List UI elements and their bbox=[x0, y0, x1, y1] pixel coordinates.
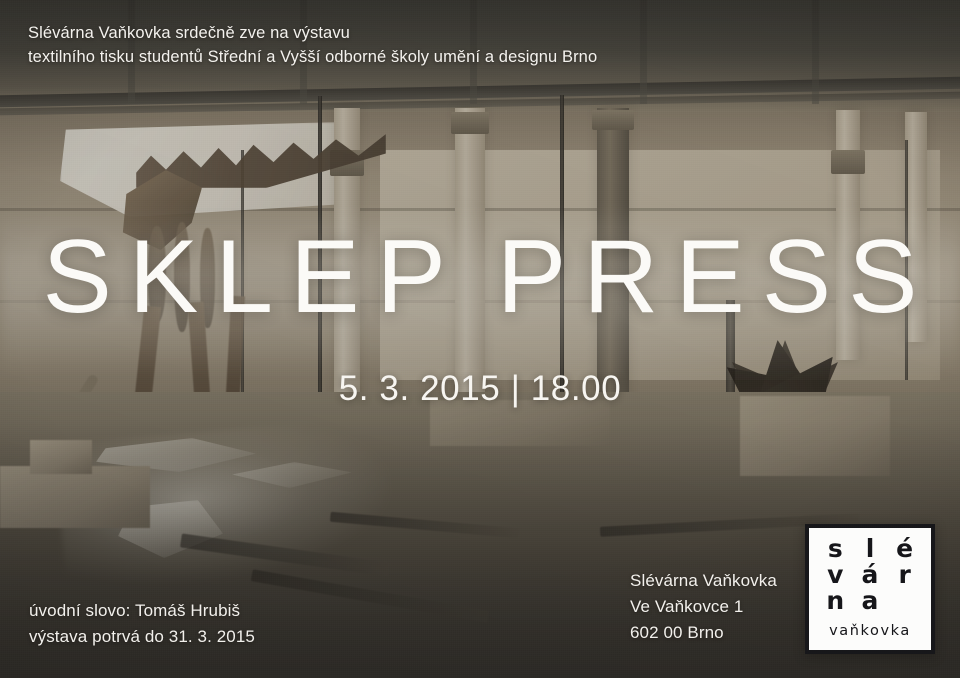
page-title: SKLEPPRESS bbox=[0, 222, 960, 332]
footer-opening-speech: úvodní slovo: Tomáš Hrubiš bbox=[29, 598, 255, 624]
logo-letter-e-acute: é bbox=[896, 536, 913, 561]
logo-letter-v: v bbox=[827, 562, 843, 587]
title-word-sklep: SKLEP bbox=[43, 219, 463, 335]
address-city: 602 00 Brno bbox=[630, 620, 777, 646]
logo-letter-n: n bbox=[826, 588, 844, 613]
logo-letter-a-acute: á bbox=[862, 562, 879, 587]
logo-letter-s: s bbox=[828, 536, 843, 561]
poster: Slévárna Vaňkovka srdečně zve na výstavu… bbox=[0, 0, 960, 678]
venue-address: Slévárna Vaňkovka Ve Vaňkovce 1 602 00 B… bbox=[630, 568, 777, 646]
logo-letter-a: a bbox=[862, 588, 879, 613]
invitation-line-1: Slévárna Vaňkovka srdečně zve na výstavu bbox=[28, 21, 597, 45]
event-datetime: 5. 3. 2015 | 18.00 bbox=[0, 368, 960, 410]
logo-letter-r: r bbox=[898, 562, 910, 587]
address-venue-name: Slévárna Vaňkovka bbox=[630, 568, 777, 594]
title-word-press: PRESS bbox=[497, 219, 935, 335]
text-overlay: Slévárna Vaňkovka srdečně zve na výstavu… bbox=[0, 0, 960, 678]
invitation-text: Slévárna Vaňkovka srdečně zve na výstavu… bbox=[28, 21, 597, 69]
logo-letter-l: l bbox=[866, 536, 875, 561]
slevarna-vankovka-logo[interactable]: s l é v á r n a vaňkovka bbox=[805, 524, 935, 654]
footer-exhibition-until: výstava potrvá do 31. 3. 2015 bbox=[29, 624, 255, 650]
logo-wordmark: vaňkovka bbox=[809, 623, 931, 639]
footer-left-text: úvodní slovo: Tomáš Hrubiš výstava potrv… bbox=[29, 598, 255, 650]
address-street: Ve Vaňkovce 1 bbox=[630, 594, 777, 620]
invitation-line-2: textilního tisku studentů Střední a Vyšš… bbox=[28, 45, 597, 69]
logo-letter-grid: s l é v á r n a bbox=[818, 535, 922, 613]
